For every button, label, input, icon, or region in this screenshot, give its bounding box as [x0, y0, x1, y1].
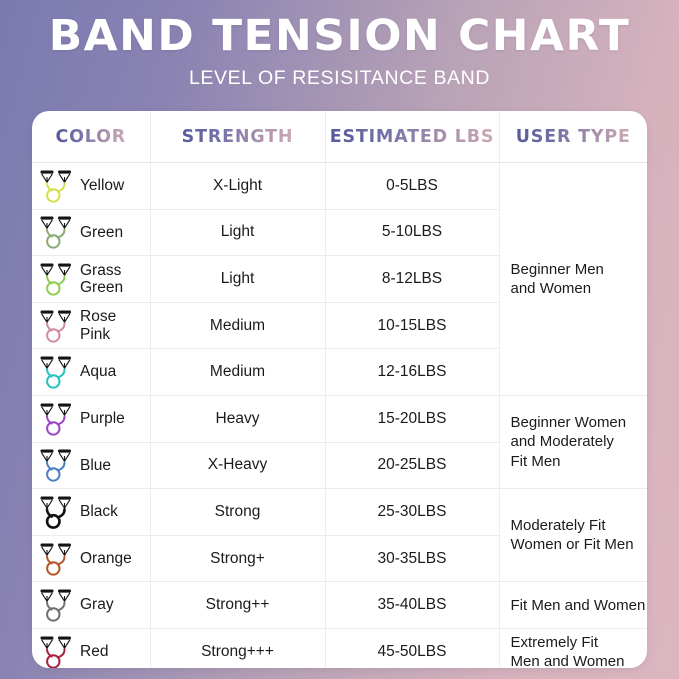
- color-cell-content: Green: [32, 210, 150, 256]
- table-row: PurpleHeavy15-20LBSBeginner Women and Mo…: [32, 395, 647, 442]
- cell-estimated-lbs: 30-35LBS: [325, 535, 499, 582]
- cell-estimated-lbs: 20-25LBS: [325, 442, 499, 489]
- column-header-color-label: COLOR: [55, 127, 126, 147]
- color-cell-content: Purple: [32, 396, 150, 442]
- cell-strength: Medium: [150, 349, 325, 396]
- column-header-estimated-lbs: ESTIMATED LBS: [325, 111, 499, 163]
- table-header-row: COLOR STRENGTH ESTIMATED LBS USER TYPE: [32, 111, 647, 163]
- cell-color: Aqua: [32, 349, 150, 396]
- color-name: Orange: [80, 550, 132, 567]
- cell-color: Grass Green: [32, 256, 150, 303]
- color-name: Yellow: [80, 177, 124, 194]
- column-header-strength-label: STRENGTH: [182, 127, 294, 147]
- column-header-color: COLOR: [32, 111, 150, 163]
- cell-strength: Light: [150, 209, 325, 256]
- cell-strength: Strong++: [150, 582, 325, 629]
- color-name: Green: [80, 224, 123, 241]
- cell-color: Red: [32, 628, 150, 668]
- cell-strength: Light: [150, 256, 325, 303]
- cell-color: Purple: [32, 395, 150, 442]
- resistance-band-icon: [39, 354, 73, 390]
- cell-estimated-lbs: 12-16LBS: [325, 349, 499, 396]
- color-cell-content: Gray: [32, 582, 150, 628]
- resistance-band-icon: [39, 308, 73, 344]
- color-name: Purple: [80, 410, 125, 427]
- cell-estimated-lbs: 10-15LBS: [325, 302, 499, 349]
- color-name: Gray: [80, 596, 114, 613]
- cell-user-type: Extremely Fit Men and Women: [499, 628, 647, 668]
- cell-color: Rose Pink: [32, 302, 150, 349]
- resistance-band-icon: [39, 494, 73, 530]
- table-row: YellowX-Light0-5LBSBeginner Men and Wome…: [32, 163, 647, 210]
- cell-color: Gray: [32, 582, 150, 629]
- column-header-user-type-label: USER TYPE: [516, 127, 631, 147]
- resistance-band-icon: [39, 168, 73, 204]
- page-title: BAND TENSION CHART: [0, 14, 679, 59]
- resistance-band-icon: [39, 634, 73, 668]
- cell-estimated-lbs: 8-12LBS: [325, 256, 499, 303]
- cell-estimated-lbs: 45-50LBS: [325, 628, 499, 668]
- cell-estimated-lbs: 35-40LBS: [325, 582, 499, 629]
- band-tension-table: COLOR STRENGTH ESTIMATED LBS USER TYPE: [32, 111, 647, 668]
- cell-user-type: Fit Men and Women: [499, 582, 647, 629]
- color-name: Red: [80, 643, 108, 660]
- color-name: Grass Green: [80, 262, 123, 297]
- color-cell-content: Rose Pink: [32, 303, 150, 349]
- table-row: BlackStrong25-30LBSModerately Fit Women …: [32, 489, 647, 536]
- cell-user-type: Beginner Men and Women: [499, 163, 647, 396]
- cell-estimated-lbs: 0-5LBS: [325, 163, 499, 210]
- column-header-estimated-lbs-label: ESTIMATED LBS: [330, 127, 495, 147]
- band-tension-chart-poster: BAND TENSION CHART LEVEL OF RESISITANCE …: [0, 0, 679, 679]
- color-name: Blue: [80, 457, 111, 474]
- cell-user-type: Beginner Women and Moderately Fit Men: [499, 395, 647, 488]
- cell-strength: Medium: [150, 302, 325, 349]
- table-row: GrayStrong++35-40LBSFit Men and Women: [32, 582, 647, 629]
- cell-strength: X-Heavy: [150, 442, 325, 489]
- chart-card: COLOR STRENGTH ESTIMATED LBS USER TYPE: [32, 111, 647, 668]
- color-cell-content: Orange: [32, 536, 150, 582]
- color-cell-content: Blue: [32, 443, 150, 489]
- resistance-band-icon: [39, 541, 73, 577]
- color-cell-content: Black: [32, 489, 150, 535]
- column-header-user-type: USER TYPE: [499, 111, 647, 163]
- color-cell-content: Yellow: [32, 163, 150, 209]
- table-row: RedStrong+++45-50LBSExtremely Fit Men an…: [32, 628, 647, 668]
- color-cell-content: Red: [32, 629, 150, 668]
- cell-color: Yellow: [32, 163, 150, 210]
- resistance-band-icon: [39, 214, 73, 250]
- cell-strength: Strong+++: [150, 628, 325, 668]
- color-name: Aqua: [80, 363, 116, 380]
- resistance-band-icon: [39, 587, 73, 623]
- cell-strength: Heavy: [150, 395, 325, 442]
- cell-strength: Strong+: [150, 535, 325, 582]
- resistance-band-icon: [39, 401, 73, 437]
- cell-strength: Strong: [150, 489, 325, 536]
- cell-color: Orange: [32, 535, 150, 582]
- cell-strength: X-Light: [150, 163, 325, 210]
- cell-estimated-lbs: 25-30LBS: [325, 489, 499, 536]
- column-header-strength: STRENGTH: [150, 111, 325, 163]
- cell-estimated-lbs: 15-20LBS: [325, 395, 499, 442]
- color-name: Rose Pink: [80, 308, 116, 343]
- resistance-band-icon: [39, 261, 73, 297]
- title-block: BAND TENSION CHART LEVEL OF RESISITANCE …: [0, 0, 679, 90]
- cell-color: Black: [32, 489, 150, 536]
- cell-color: Blue: [32, 442, 150, 489]
- resistance-band-icon: [39, 447, 73, 483]
- color-cell-content: Aqua: [32, 349, 150, 395]
- color-cell-content: Grass Green: [32, 256, 150, 302]
- table-header: COLOR STRENGTH ESTIMATED LBS USER TYPE: [32, 111, 647, 163]
- color-name: Black: [80, 503, 118, 520]
- page-subtitle: LEVEL OF RESISITANCE BAND: [0, 67, 679, 90]
- cell-user-type: Moderately Fit Women or Fit Men: [499, 489, 647, 582]
- cell-color: Green: [32, 209, 150, 256]
- table-body: YellowX-Light0-5LBSBeginner Men and Wome…: [32, 163, 647, 669]
- cell-estimated-lbs: 5-10LBS: [325, 209, 499, 256]
